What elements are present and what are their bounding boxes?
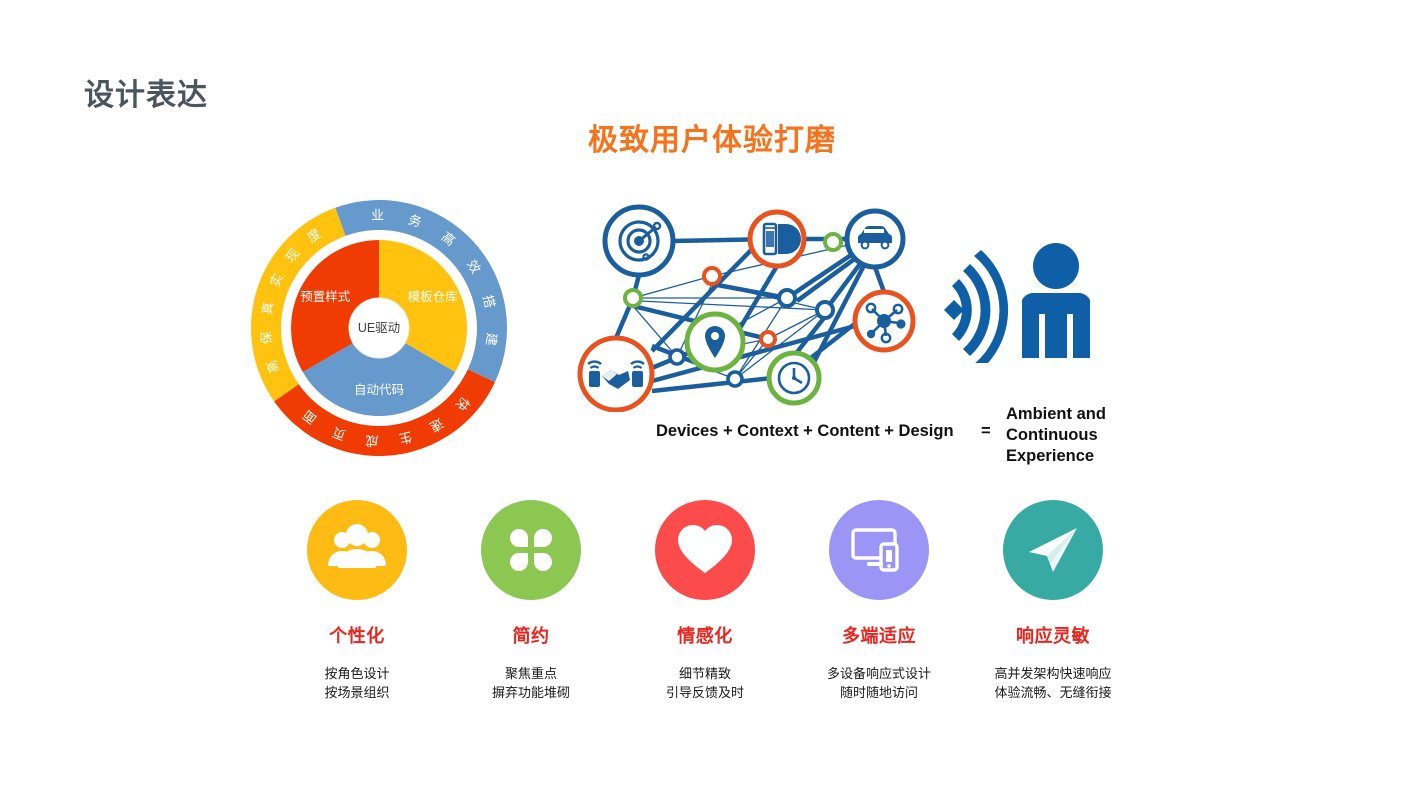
donut-outer-label-char: 建 <box>483 332 499 346</box>
feature-desc-line1: 高并发架构快速响应 <box>994 666 1111 681</box>
location-pin-icon <box>687 314 743 370</box>
iot-network-diagram <box>572 196 940 412</box>
feature-description: 多设备响应式设计 随时随地访问 <box>827 664 931 702</box>
small-node <box>670 350 684 364</box>
donut-inner-label-1: 自动代码 <box>354 383 404 397</box>
feature-icon-circle <box>481 500 581 600</box>
feature-title: 情感化 <box>677 622 733 648</box>
handshake-devices-icon <box>580 338 652 410</box>
feature-desc-line2: 摒弃功能堆砌 <box>492 685 570 700</box>
feature-desc-line1: 按角色设计 <box>324 666 389 681</box>
equation-right-text: Ambient and Continuous Experience <box>1006 404 1146 467</box>
feature-description: 细节精致 引导反馈及时 <box>666 664 744 702</box>
feature-item-simplicity[interactable]: 简约 聚焦重点 摒弃功能堆砌 <box>444 500 618 702</box>
donut-inner-label-2: 预置样式 <box>300 289 351 304</box>
donut-outer-label-char: 成 <box>365 433 379 449</box>
paper-plane-icon <box>1029 528 1077 572</box>
small-node <box>625 290 641 306</box>
feature-desc-line1: 聚焦重点 <box>505 666 557 681</box>
four-petal-icon <box>510 529 552 571</box>
feature-desc-line2: 随时随地访问 <box>840 685 918 700</box>
feature-title: 个性化 <box>329 622 385 648</box>
donut-inner-label-0: 模板仓库 <box>408 289 458 304</box>
feature-item-multidevice[interactable]: 多端适应 多设备响应式设计 随时随地访问 <box>792 500 966 702</box>
equation-caption: Devices + Context + Content + Design = A… <box>656 418 1136 488</box>
mobile-devices-icon <box>750 212 804 266</box>
equation-left-text: Devices + Context + Content + Design <box>656 422 954 441</box>
donut-center-label: UE驱动 <box>358 321 400 335</box>
feature-desc-line2: 按场景组织 <box>324 685 389 700</box>
feature-icon-circle <box>655 500 755 600</box>
feature-item-responsive[interactable]: 响应灵敏 高并发架构快速响应 体验流畅、无缝衔接 <box>966 500 1140 702</box>
feature-desc-line1: 细节精致 <box>679 666 731 681</box>
feature-desc-line2: 体验流畅、无缝衔接 <box>994 685 1111 700</box>
donut-outer-label-char: 真 <box>259 301 276 316</box>
wifi-signal-icon <box>944 250 1008 363</box>
person-icon <box>1022 243 1090 358</box>
feature-row: 个性化 按角色设计 按场景组织 简约 聚焦重点 <box>270 500 1140 720</box>
feature-description: 聚焦重点 摒弃功能堆砌 <box>492 664 570 702</box>
users-group-icon <box>328 524 386 568</box>
page-title: 设计表达 <box>84 70 208 114</box>
small-node <box>704 268 720 284</box>
small-node <box>761 332 775 346</box>
small-node <box>728 372 742 386</box>
feature-description: 按角色设计 按场景组织 <box>324 664 389 702</box>
heart-icon <box>678 525 732 573</box>
feature-item-emotional[interactable]: 情感化 细节精致 引导反馈及时 <box>618 500 792 702</box>
feature-title: 简约 <box>513 622 550 648</box>
feature-icon-circle <box>1003 500 1103 600</box>
small-node <box>825 234 841 250</box>
clock-icon <box>769 353 819 403</box>
small-node <box>817 302 833 318</box>
donut-outer-label-char: 业 <box>371 207 384 222</box>
ue-driven-donut-chart: UE驱动 业务高效搭建快速生成页面高保真实现度 模板仓库 自动代码 预置样式 <box>248 197 510 459</box>
feature-item-personalization[interactable]: 个性化 按角色设计 按场景组织 <box>270 500 444 702</box>
radar-target-icon <box>605 207 673 275</box>
feature-description: 高并发架构快速响应 体验流畅、无缝衔接 <box>994 664 1111 702</box>
slide-canvas: 设计表达 极致用户体验打磨 UE驱动 业务高效搭建快速生成页面高保真实现度 模板… <box>0 0 1414 793</box>
section-heading: 极致用户体验打磨 <box>588 115 836 159</box>
feature-title: 响应灵敏 <box>1016 622 1090 648</box>
feature-icon-circle <box>307 500 407 600</box>
donut-outer-label-char: 保 <box>258 331 274 345</box>
network-hub-icon <box>855 292 913 350</box>
feature-desc-line2: 引导反馈及时 <box>666 685 744 700</box>
feature-desc-line1: 多设备响应式设计 <box>827 666 931 681</box>
equation-equals-sign: = <box>981 422 991 441</box>
feature-icon-circle <box>829 500 929 600</box>
feature-title: 多端适应 <box>842 622 916 648</box>
car-icon <box>847 211 903 267</box>
ambient-experience-illustration <box>930 238 1130 363</box>
small-node <box>779 290 795 306</box>
